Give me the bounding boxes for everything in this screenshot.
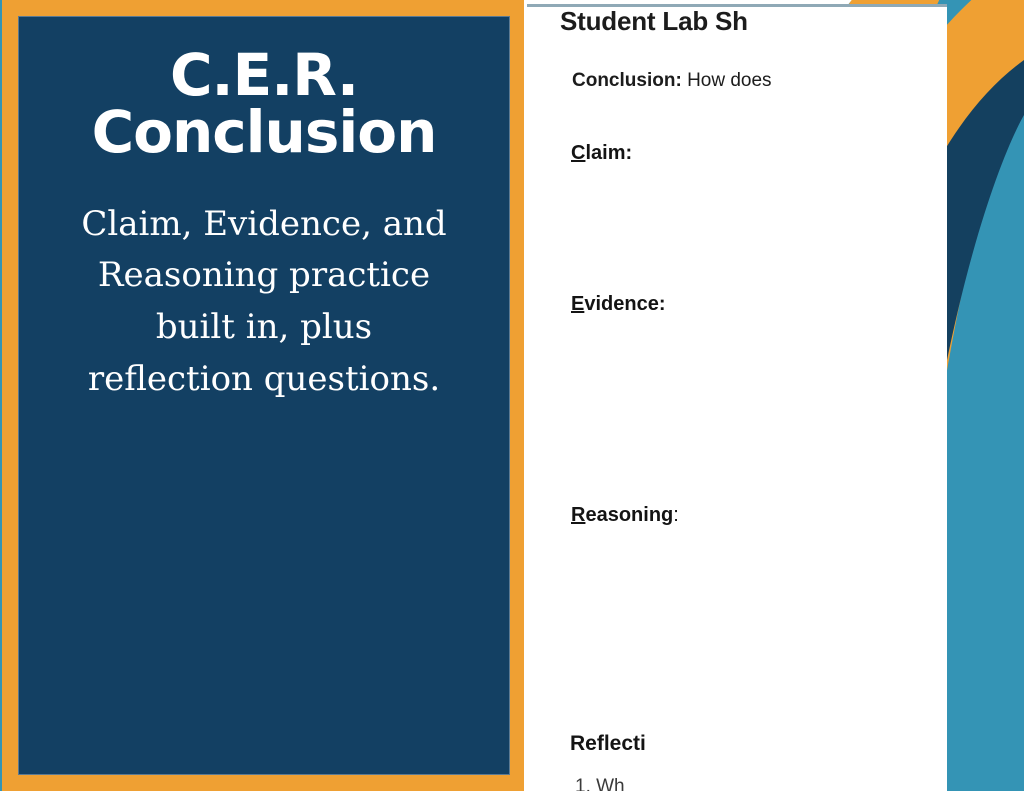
field-reasoning-rest: easoning (585, 504, 673, 526)
conclusion-prompt: Conclusion: How does (572, 70, 772, 92)
field-evidence-initial: E (571, 293, 584, 315)
field-claim-initial: C (571, 142, 585, 164)
field-reasoning: Reasoning: (571, 504, 679, 527)
field-reasoning-colon: : (673, 504, 679, 526)
slide-canvas: Student Lab Sh Conclusion: How does Clai… (0, 0, 1024, 791)
conclusion-prompt-text: How does (687, 70, 772, 91)
cer-card-inner: C.E.R. Conclusion Claim, Evidence, and R… (18, 16, 510, 775)
field-reasoning-initial: R (571, 504, 585, 526)
document-title: Student Lab Sh (560, 6, 748, 37)
field-claim: Claim: (571, 142, 632, 165)
reflection-questions-heading: Reflecti (570, 732, 646, 756)
cer-conclusion-card: C.E.R. Conclusion Claim, Evidence, and R… (2, 0, 524, 791)
field-evidence: Evidence: (571, 293, 666, 316)
conclusion-prompt-label: Conclusion: (572, 70, 682, 91)
cer-card-description: Claim, Evidence, and Reasoning practice … (69, 199, 459, 406)
reflection-question-item: 1. Wh (575, 776, 625, 791)
cer-card-title: C.E.R. Conclusion (49, 47, 479, 161)
field-evidence-rest: vidence: (584, 293, 665, 315)
student-lab-sheet-document: Student Lab Sh Conclusion: How does Clai… (527, 4, 947, 791)
field-claim-rest: laim: (585, 142, 632, 164)
